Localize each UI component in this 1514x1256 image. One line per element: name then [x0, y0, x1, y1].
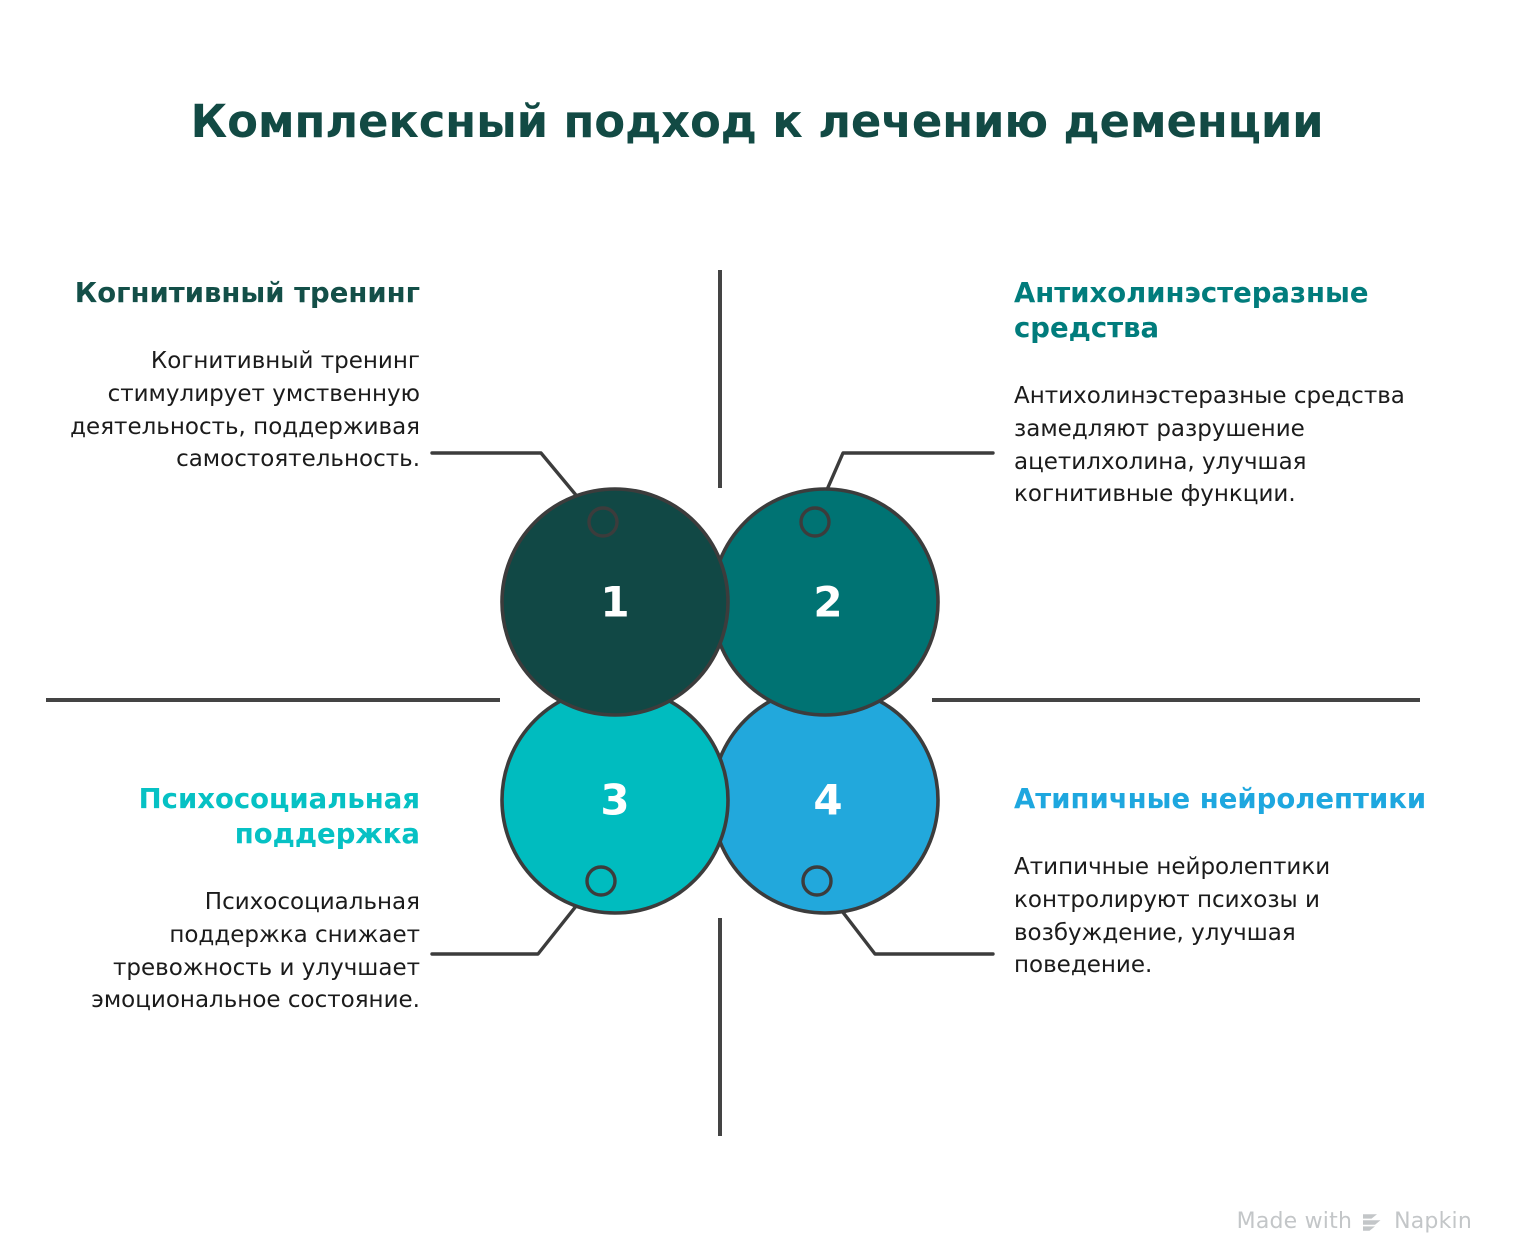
- connector-lines: [432, 453, 993, 954]
- venn-circle-2[interactable]: [712, 489, 938, 715]
- quadrant-block-1: Когнитивный тренинг Когнитивный тренинг …: [60, 276, 420, 476]
- venn-number-1: 1: [600, 578, 629, 627]
- connector-rings: [587, 508, 831, 895]
- watermark-brand-label: Napkin: [1394, 1209, 1472, 1234]
- connector-line-2: [812, 453, 993, 524]
- venn-number-3: 3: [600, 776, 629, 825]
- quadrant-heading-3: Психосоциальная поддержка: [60, 782, 420, 852]
- napkin-watermark: Made with Napkin: [1237, 1209, 1472, 1234]
- quadrant-heading-4: Атипичные нейролептики: [1014, 782, 1434, 817]
- venn-circle-1[interactable]: [502, 489, 728, 715]
- quadrant-block-4: Атипичные нейролептики Атипичные нейроле…: [1014, 782, 1434, 982]
- quadrant-body-2: Антихолинэстеразные средства замедляют р…: [1014, 380, 1454, 511]
- infographic-canvas: Комплексный подход к лечению деменции Ко…: [0, 0, 1514, 1256]
- quadrant-heading-1: Когнитивный тренинг: [60, 276, 420, 311]
- connector-ring-4: [803, 867, 831, 895]
- connector-ring-1: [589, 508, 617, 536]
- venn-circle-4[interactable]: [712, 687, 938, 913]
- venn-circle-3[interactable]: [502, 687, 728, 913]
- connector-line-3: [432, 876, 600, 954]
- quadrant-block-3: Психосоциальная поддержка Психосоциальна…: [60, 782, 420, 1017]
- venn-number-2: 2: [813, 578, 842, 627]
- quadrant-body-4: Атипичные нейролептики контролируют псих…: [1014, 851, 1434, 982]
- quadrant-heading-2: Антихолинэстеразные средства: [1014, 276, 1454, 346]
- venn-cluster: 1 2 3 4: [0, 0, 1514, 1256]
- napkin-logo-icon: [1361, 1211, 1385, 1233]
- page-title: Комплексный подход к лечению деменции: [0, 96, 1514, 148]
- connector-ring-3: [587, 867, 615, 895]
- venn-number-4: 4: [813, 776, 842, 825]
- connector-line-1: [432, 453, 600, 524]
- connector-ring-2: [801, 508, 829, 536]
- quadrant-block-2: Антихолинэстеразные средства Антихолинэс…: [1014, 276, 1454, 511]
- quadrant-body-3: Психосоциальная поддержка снижает тревож…: [60, 886, 420, 1017]
- watermark-made-with-label: Made with: [1237, 1209, 1352, 1234]
- quadrant-body-1: Когнитивный тренинг стимулирует умственн…: [60, 345, 420, 476]
- connector-line-4: [815, 876, 993, 954]
